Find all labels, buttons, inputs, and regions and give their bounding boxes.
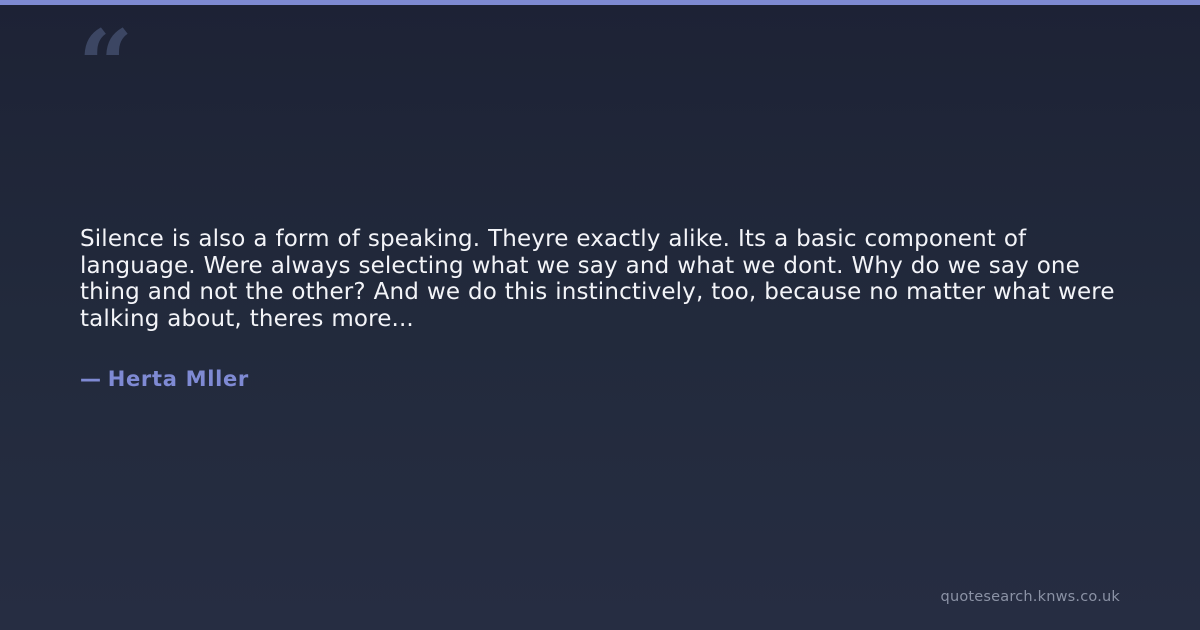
- quote-card: “ Silence is also a form of speaking. Th…: [0, 0, 1200, 630]
- quote-author: —Herta Mller: [80, 332, 1125, 391]
- quote-content: Silence is also a form of speaking. They…: [80, 226, 1125, 391]
- top-accent-bar: [0, 0, 1200, 5]
- open-quote-icon: “: [78, 18, 131, 114]
- quote-text: Silence is also a form of speaking. They…: [80, 226, 1125, 332]
- author-name: Herta Mller: [108, 367, 249, 391]
- author-dash: —: [80, 367, 102, 391]
- source-url: quotesearch.knws.co.uk: [941, 589, 1120, 605]
